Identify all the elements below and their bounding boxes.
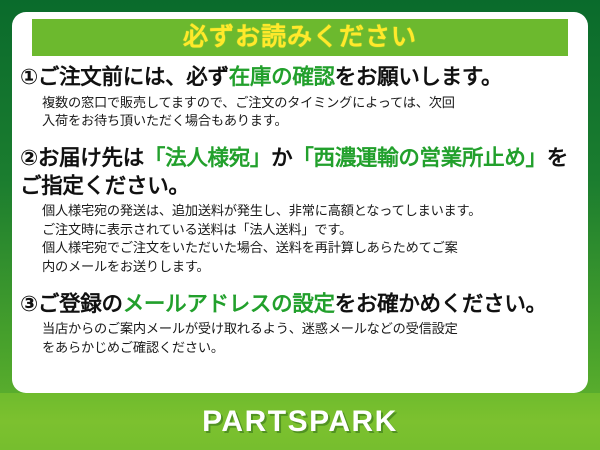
notice-item-3: ③ご登録のメールアドレスの設定をお確かめください。 当店からのご案内メールが受け… <box>20 291 578 358</box>
notice-item-3-subline-2: をあらかじめご確認ください。 <box>42 339 578 358</box>
notice-item-2-heading: ②お届け先は「法人様宛」か「西濃運輸の営業所止め」をご指定ください。 <box>20 145 578 200</box>
notice-item-1-heading: ①ご注文前には、必ず在庫の確認をお願いします。 <box>20 64 578 92</box>
notice-item-3-heading: ③ご登録のメールアドレスの設定をお確かめください。 <box>20 291 578 319</box>
notice-item-1-heading-highlight: 在庫の確認 <box>229 65 335 89</box>
notice-item-3-subline-1: 当店からのご案内メールが受け取れるよう、迷惑メールなどの受信設定 <box>42 320 578 339</box>
brand-logo: PARTSPARK <box>202 405 398 439</box>
notice-item-2-subline-1: 個人様宅宛の発送は、追加送料が発生し、非常に高額となってしまいます。 <box>42 202 578 221</box>
notice-inner-panel: 必ずお読みください ①ご注文前には、必ず在庫の確認をお願いします。 複数の窓口で… <box>12 12 588 393</box>
notice-item-3-subtext: 当店からのご案内メールが受け取れるよう、迷惑メールなどの受信設定 をあらかじめご… <box>42 320 578 357</box>
notice-item-1-marker: ① <box>20 65 38 89</box>
notice-item-3-heading-part-3: をお確かめください。 <box>335 292 547 316</box>
footer-bar: PARTSPARK <box>0 393 600 450</box>
notice-item-2-heading-part-1: お届け先は <box>38 146 144 170</box>
notice-item-3-marker: ③ <box>20 292 38 316</box>
notice-card: 必ずお読みください ①ご注文前には、必ず在庫の確認をお願いします。 複数の窓口で… <box>0 0 600 450</box>
notice-item-1-subline-1: 複数の窓口で販売してますので、ご注文のタイミングによっては、次回 <box>42 94 578 113</box>
notice-item-2-subline-2: ご注文時に表示されている送料は「法人送料」です。 <box>42 221 578 240</box>
notice-item-1-subtext: 複数の窓口で販売してますので、ご注文のタイミングによっては、次回 入荷をお待ち頂… <box>42 94 578 131</box>
notice-content: ①ご注文前には、必ず在庫の確認をお願いします。 複数の窓口で販売してますので、ご… <box>12 64 588 389</box>
notice-item-2-heading-part-3: か <box>271 146 292 170</box>
page-title: 必ずお読みください <box>183 25 417 50</box>
notice-item-3-heading-part-1: ご登録の <box>38 292 123 316</box>
notice-item-1-heading-part-3: をお願いします。 <box>335 65 502 89</box>
notice-item-2: ②お届け先は「法人様宛」か「西濃運輸の営業所止め」をご指定ください。 個人様宅宛… <box>20 145 578 277</box>
notice-item-2-subtext: 個人様宅宛の発送は、追加送料が発生し、非常に高額となってしまいます。 ご注文時に… <box>42 202 578 277</box>
notice-item-2-heading-highlight-2: 「西濃運輸の営業所止め」 <box>292 146 546 170</box>
notice-item-1: ①ご注文前には、必ず在庫の確認をお願いします。 複数の窓口で販売してますので、ご… <box>20 64 578 131</box>
title-banner: 必ずお読みください <box>32 19 568 56</box>
notice-item-2-subline-4: 内のメールをお送りします。 <box>42 258 578 277</box>
notice-item-1-heading-part-1: ご注文前には、必ず <box>38 65 229 89</box>
notice-item-2-marker: ② <box>20 146 38 170</box>
notice-item-3-heading-highlight: メールアドレスの設定 <box>123 292 335 316</box>
notice-item-2-heading-highlight-1: 「法人様宛」 <box>144 146 271 170</box>
notice-item-1-subline-2: 入荷をお待ち頂いただく場合もあります。 <box>42 112 578 131</box>
notice-item-2-subline-3: 個人様宅宛でご注文をいただいた場合、送料を再計算しあらためてご案 <box>42 239 578 258</box>
